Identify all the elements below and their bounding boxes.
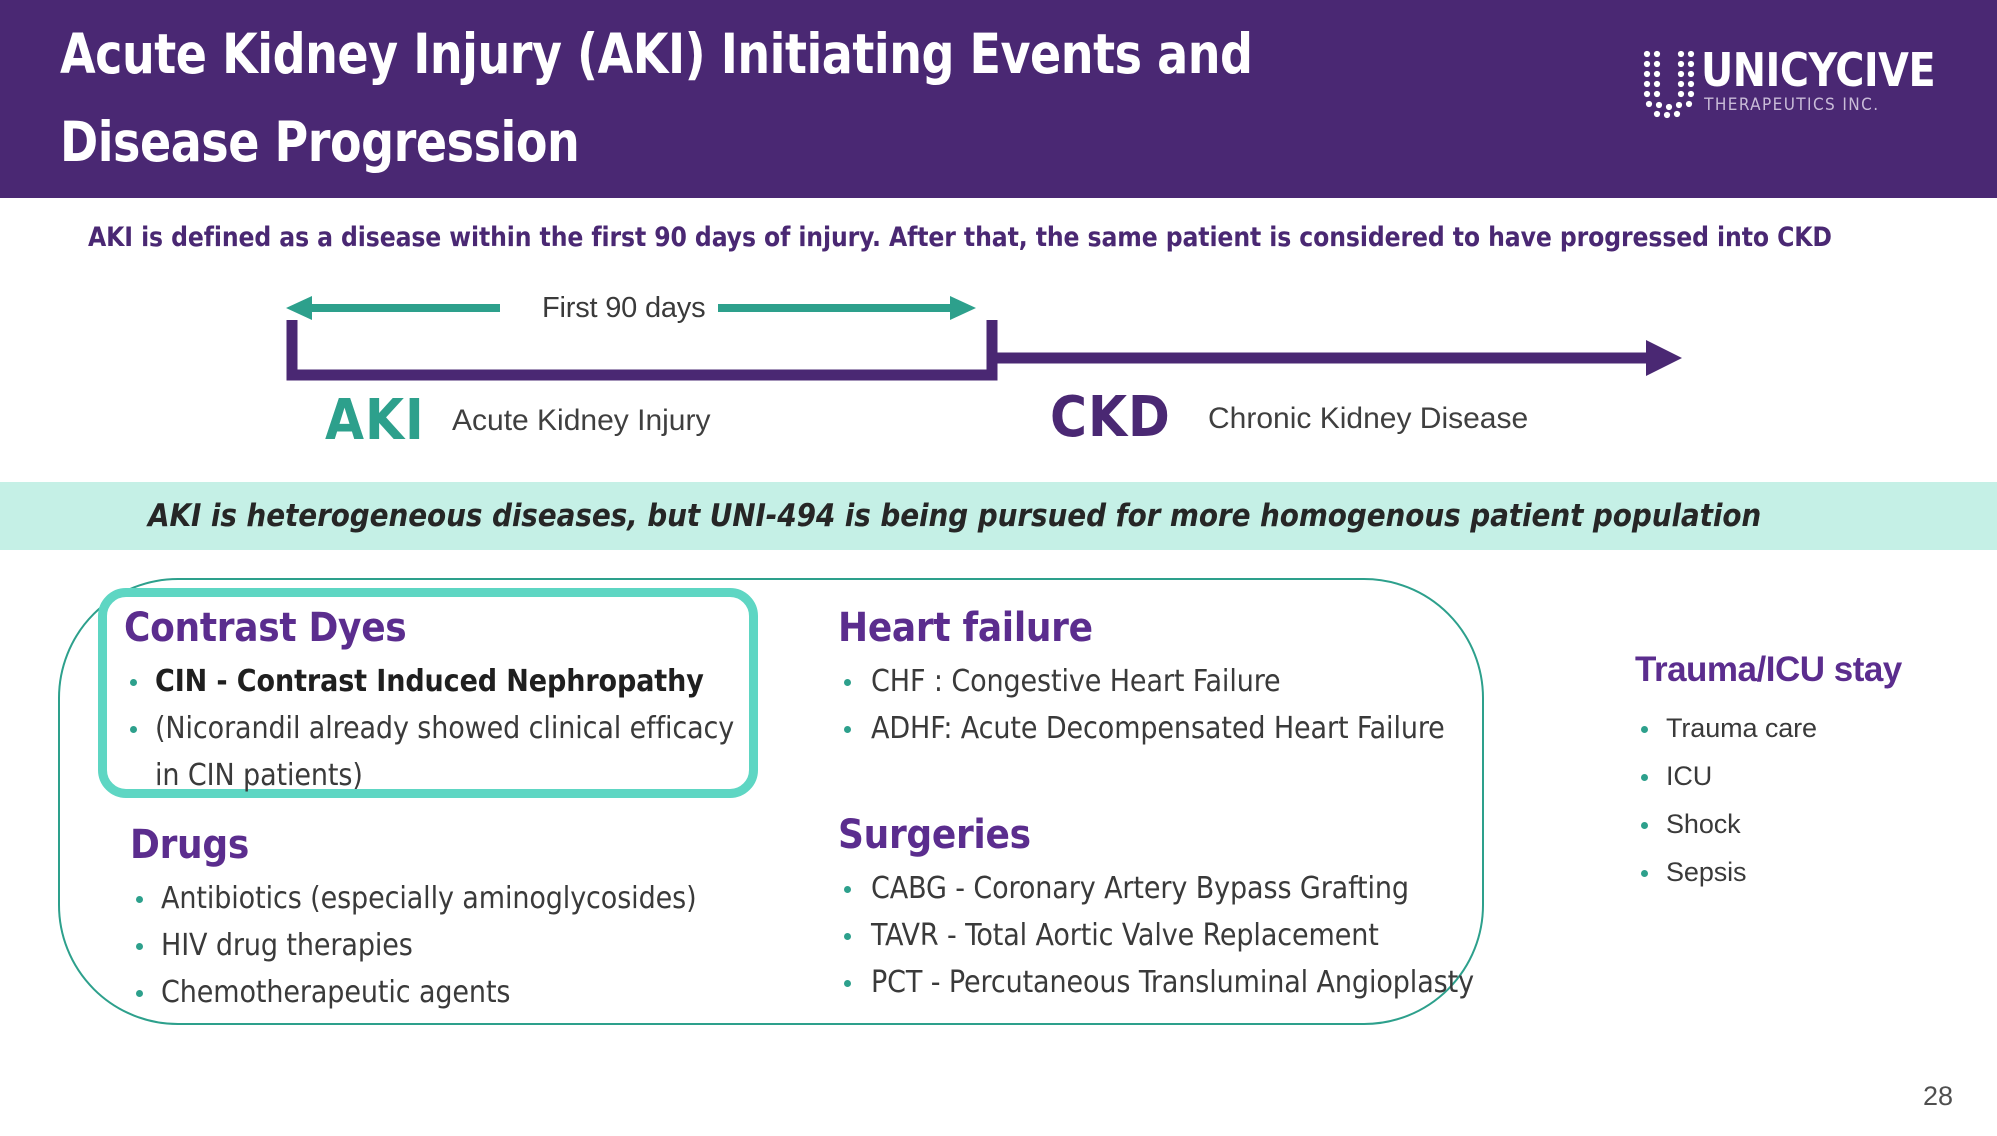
- group-heading: Surgeries: [838, 812, 1478, 858]
- list-item: (Nicorandil already showed clinical effi…: [124, 705, 744, 799]
- list-item: Trauma care: [1635, 704, 1985, 752]
- timeline-aki-abbr: AKI: [325, 388, 425, 453]
- list-item: Chemotherapeutic agents: [130, 969, 750, 1016]
- group-bullet-list: CIN - Contrast Induced Nephropathy (Nico…: [124, 658, 744, 799]
- group-trauma-icu: Trauma/ICU stay Trauma care ICU Shock Se…: [1635, 650, 1985, 896]
- list-item: Shock: [1635, 800, 1985, 848]
- page-number: 28: [1923, 1081, 1953, 1112]
- teal-left-arrow: [286, 296, 500, 320]
- group-contrast-dyes: Contrast Dyes CIN - Contrast Induced Nep…: [124, 605, 744, 799]
- timeline-ckd-abbr: CKD: [1050, 385, 1171, 450]
- list-item: Sepsis: [1635, 848, 1985, 896]
- highlight-banner-text: AKI is heterogeneous diseases, but UNI-4…: [148, 498, 1761, 534]
- list-item: Antibiotics (especially aminoglycosides): [130, 875, 750, 922]
- group-bullet-list: CABG - Coronary Artery Bypass Grafting T…: [838, 865, 1478, 1006]
- list-item: ADHF: Acute Decompensated Heart Failure: [838, 705, 1478, 752]
- group-surgeries: Surgeries CABG - Coronary Artery Bypass …: [838, 812, 1478, 1006]
- group-bullet-list: Trauma care ICU Shock Sepsis: [1635, 704, 1985, 896]
- group-heading: Contrast Dyes: [124, 605, 744, 651]
- list-item: TAVR - Total Aortic Valve Replacement: [838, 912, 1478, 959]
- list-item: HIV drug therapies: [130, 922, 750, 969]
- group-heading: Heart failure: [838, 605, 1478, 651]
- timeline-ckd-label: Chronic Kidney Disease: [1208, 402, 1528, 436]
- teal-right-arrow: [718, 296, 976, 320]
- list-item: CHF : Congestive Heart Failure: [838, 658, 1478, 705]
- slide: Acute Kidney Injury (AKI) Initiating Eve…: [0, 0, 1997, 1136]
- list-item: PCT - Percutaneous Transluminal Angiopla…: [838, 959, 1478, 1006]
- timeline-span-label: First 90 days: [542, 292, 705, 325]
- timeline-diagram: First 90 days AKI Acute Kidney Injury CK…: [0, 0, 1997, 230]
- list-item: ICU: [1635, 752, 1985, 800]
- group-heading: Drugs: [130, 822, 750, 868]
- group-bullet-list: CHF : Congestive Heart Failure ADHF: Acu…: [838, 658, 1478, 752]
- list-item: CIN - Contrast Induced Nephropathy: [124, 658, 744, 705]
- timeline-aki-label: Acute Kidney Injury: [452, 404, 710, 438]
- timeline-graphic: [0, 272, 1997, 472]
- group-bullet-list: Antibiotics (especially aminoglycosides)…: [130, 875, 750, 1016]
- purple-progression-arrow: [992, 340, 1682, 376]
- group-heart-failure: Heart failure CHF : Congestive Heart Fai…: [838, 605, 1478, 752]
- highlight-banner: AKI is heterogeneous diseases, but UNI-4…: [0, 482, 1997, 550]
- list-item: CABG - Coronary Artery Bypass Grafting: [838, 865, 1478, 912]
- purple-bracket: [292, 320, 992, 375]
- group-drugs: Drugs Antibiotics (especially aminoglyco…: [130, 822, 750, 1016]
- group-heading: Trauma/ICU stay: [1635, 650, 1985, 690]
